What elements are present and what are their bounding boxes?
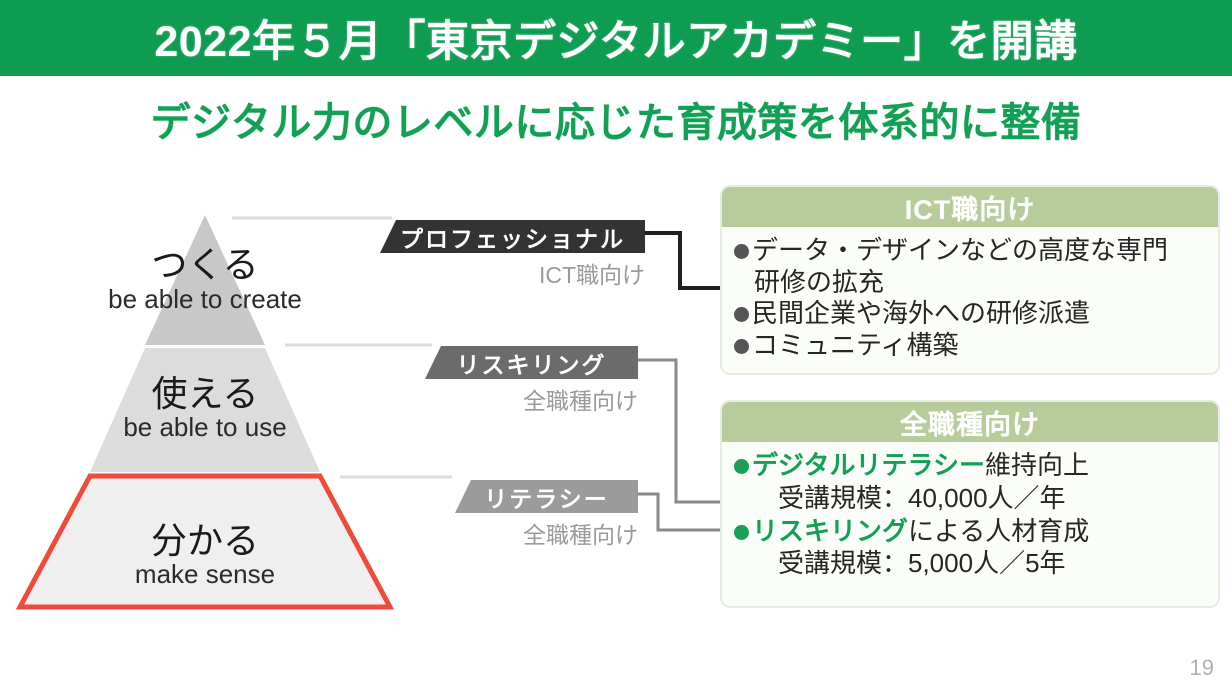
list-item: 民間企業や海外への研修派遣 — [734, 298, 1208, 330]
list-item: データ・デザインなどの高度な専門 — [734, 235, 1208, 267]
tag-literacy-sub: 全職種向け — [455, 516, 638, 550]
list-item-detail: 受講規模：5,000人／5年 — [734, 547, 1208, 581]
info-box-all-jobs: 全職種向け デジタルリテラシー維持向上 受講規模：40,000人／年 リスキリン… — [720, 400, 1220, 608]
tag-reskilling-sub: 全職種向け — [425, 382, 638, 416]
bullet-dot-icon — [734, 307, 749, 322]
tag-literacy[interactable]: リテラシー — [455, 480, 638, 513]
slide: 2022年５月「東京デジタルアカデミー」を開講 デジタル力のレベルに応じた育成策… — [0, 0, 1232, 689]
page-number: 19 — [1190, 655, 1214, 681]
page-title: 2022年５月「東京デジタルアカデミー」を開講 — [0, 0, 1232, 76]
list-item: デジタルリテラシー維持向上 — [734, 450, 1208, 482]
bullet-dot-icon — [734, 525, 749, 540]
tag-professional[interactable]: プロフェッショナル — [380, 220, 645, 253]
bullet-dot-icon — [734, 339, 749, 354]
list-item-continuation: 研修の拡充 — [734, 267, 1208, 299]
list-item: コミュニティ構築 — [734, 330, 1208, 362]
bullet-dot-icon — [734, 244, 749, 259]
connector-literacy — [638, 494, 722, 530]
info-box-all-jobs-title: 全職種向け — [722, 402, 1218, 442]
info-box-all-jobs-body: デジタルリテラシー維持向上 受講規模：40,000人／年 リスキリングによる人材… — [722, 442, 1218, 587]
connector-professional — [645, 233, 722, 288]
keyword-highlight: リスキリング — [752, 516, 908, 546]
page-subtitle: デジタル力のレベルに応じた育成策を体系的に整備 — [0, 90, 1232, 148]
tag-reskilling[interactable]: リスキリング — [425, 346, 638, 379]
tag-professional-sub: ICT職向け — [380, 256, 645, 290]
keyword-highlight: デジタルリテラシー — [752, 450, 985, 480]
list-item-detail: 受講規模：40,000人／年 — [734, 482, 1208, 516]
info-box-ict-body: データ・デザインなどの高度な専門 研修の拡充 民間企業や海外への研修派遣 コミュ… — [722, 227, 1218, 368]
bullet-dot-icon — [734, 459, 749, 474]
info-box-ict: ICT職向け データ・デザインなどの高度な専門 研修の拡充 民間企業や海外への研… — [720, 185, 1220, 375]
info-box-ict-title: ICT職向け — [722, 187, 1218, 227]
connector-reskilling — [638, 360, 722, 502]
list-item: リスキリングによる人材育成 — [734, 516, 1208, 548]
